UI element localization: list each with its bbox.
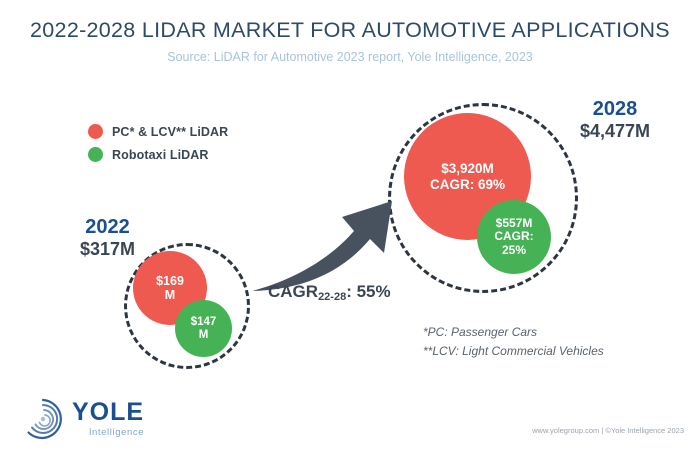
yole-wordmark: YOLE bbox=[72, 400, 144, 425]
year-total-2028: $4,477M bbox=[540, 121, 690, 143]
legend-label-pc-lcv: PC* & LCV** LiDAR bbox=[112, 125, 228, 139]
legend-label-robotaxi: Robotaxi LiDAR bbox=[112, 148, 209, 162]
yole-spiral-icon bbox=[20, 396, 66, 442]
chart-legend: PC* & LCV** LiDAR Robotaxi LiDAR bbox=[88, 120, 228, 166]
year-block-2028: 2028 $4,477M bbox=[540, 98, 690, 143]
yole-subtitle: Intelligence bbox=[72, 427, 144, 438]
infographic-canvas: 2022-2028 LIDAR MARKET FOR AUTOMOTIVE AP… bbox=[0, 0, 700, 452]
legend-dot-red-icon bbox=[88, 124, 103, 139]
bubble-2028-robotaxi: $557MCAGR:25% bbox=[477, 200, 551, 274]
year-label-2022: 2022 bbox=[55, 216, 160, 239]
footnotes: *PC: Passenger Cars **LCV: Light Commerc… bbox=[423, 323, 604, 360]
yole-logo: YOLE Intelligence bbox=[20, 396, 144, 442]
year-block-2022: 2022 $317M bbox=[55, 216, 160, 261]
year-total-2022: $317M bbox=[55, 239, 160, 261]
year-label-2028: 2028 bbox=[540, 98, 690, 121]
bubble-2022-pc-lcv-text: $169M bbox=[156, 274, 184, 302]
legend-item-robotaxi: Robotaxi LiDAR bbox=[88, 143, 228, 166]
footnote-lcv: **LCV: Light Commercial Vehicles bbox=[423, 342, 604, 361]
bubble-2022-robotaxi-text: $147M bbox=[191, 316, 217, 342]
page-subtitle: Source: LiDAR for Automotive 2023 report… bbox=[0, 50, 700, 64]
page-title: 2022-2028 LIDAR MARKET FOR AUTOMOTIVE AP… bbox=[0, 18, 700, 43]
footnote-pc: *PC: Passenger Cars bbox=[423, 323, 604, 342]
legend-dot-green-icon bbox=[88, 147, 103, 162]
bubble-2028-robotaxi-text: $557MCAGR:25% bbox=[494, 217, 533, 257]
footer-credit: www.yolegroup.com | ©Yole Intelligence 2… bbox=[532, 426, 684, 435]
yole-logo-text: YOLE Intelligence bbox=[72, 400, 144, 438]
bubble-2028-pc-lcv-text: $3,920MCAGR: 69% bbox=[430, 161, 505, 191]
bubble-2022-robotaxi: $147M bbox=[175, 300, 232, 357]
legend-item-pc-lcv: PC* & LCV** LiDAR bbox=[88, 120, 228, 143]
cagr-overall-label: CAGR22-28: 55% bbox=[268, 282, 391, 302]
